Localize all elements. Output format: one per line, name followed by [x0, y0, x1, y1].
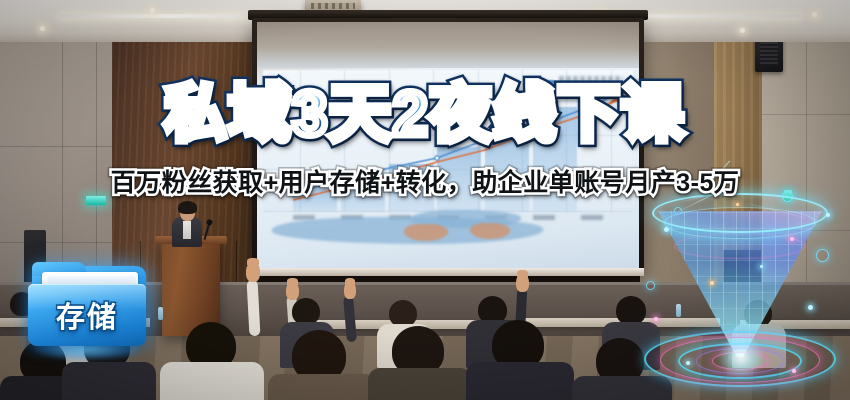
poster-subtitle: 百万粉丝获取+用户存储+转化，助企业单账号月产3-5万: [0, 163, 850, 199]
poster-title: 私域3天2夜线下课: [0, 84, 850, 146]
poster-canvas: 存储 私域3天2夜线下课 私域3天2夜线下课 百万粉丝获取+用户存储+转化，助企…: [0, 0, 850, 400]
